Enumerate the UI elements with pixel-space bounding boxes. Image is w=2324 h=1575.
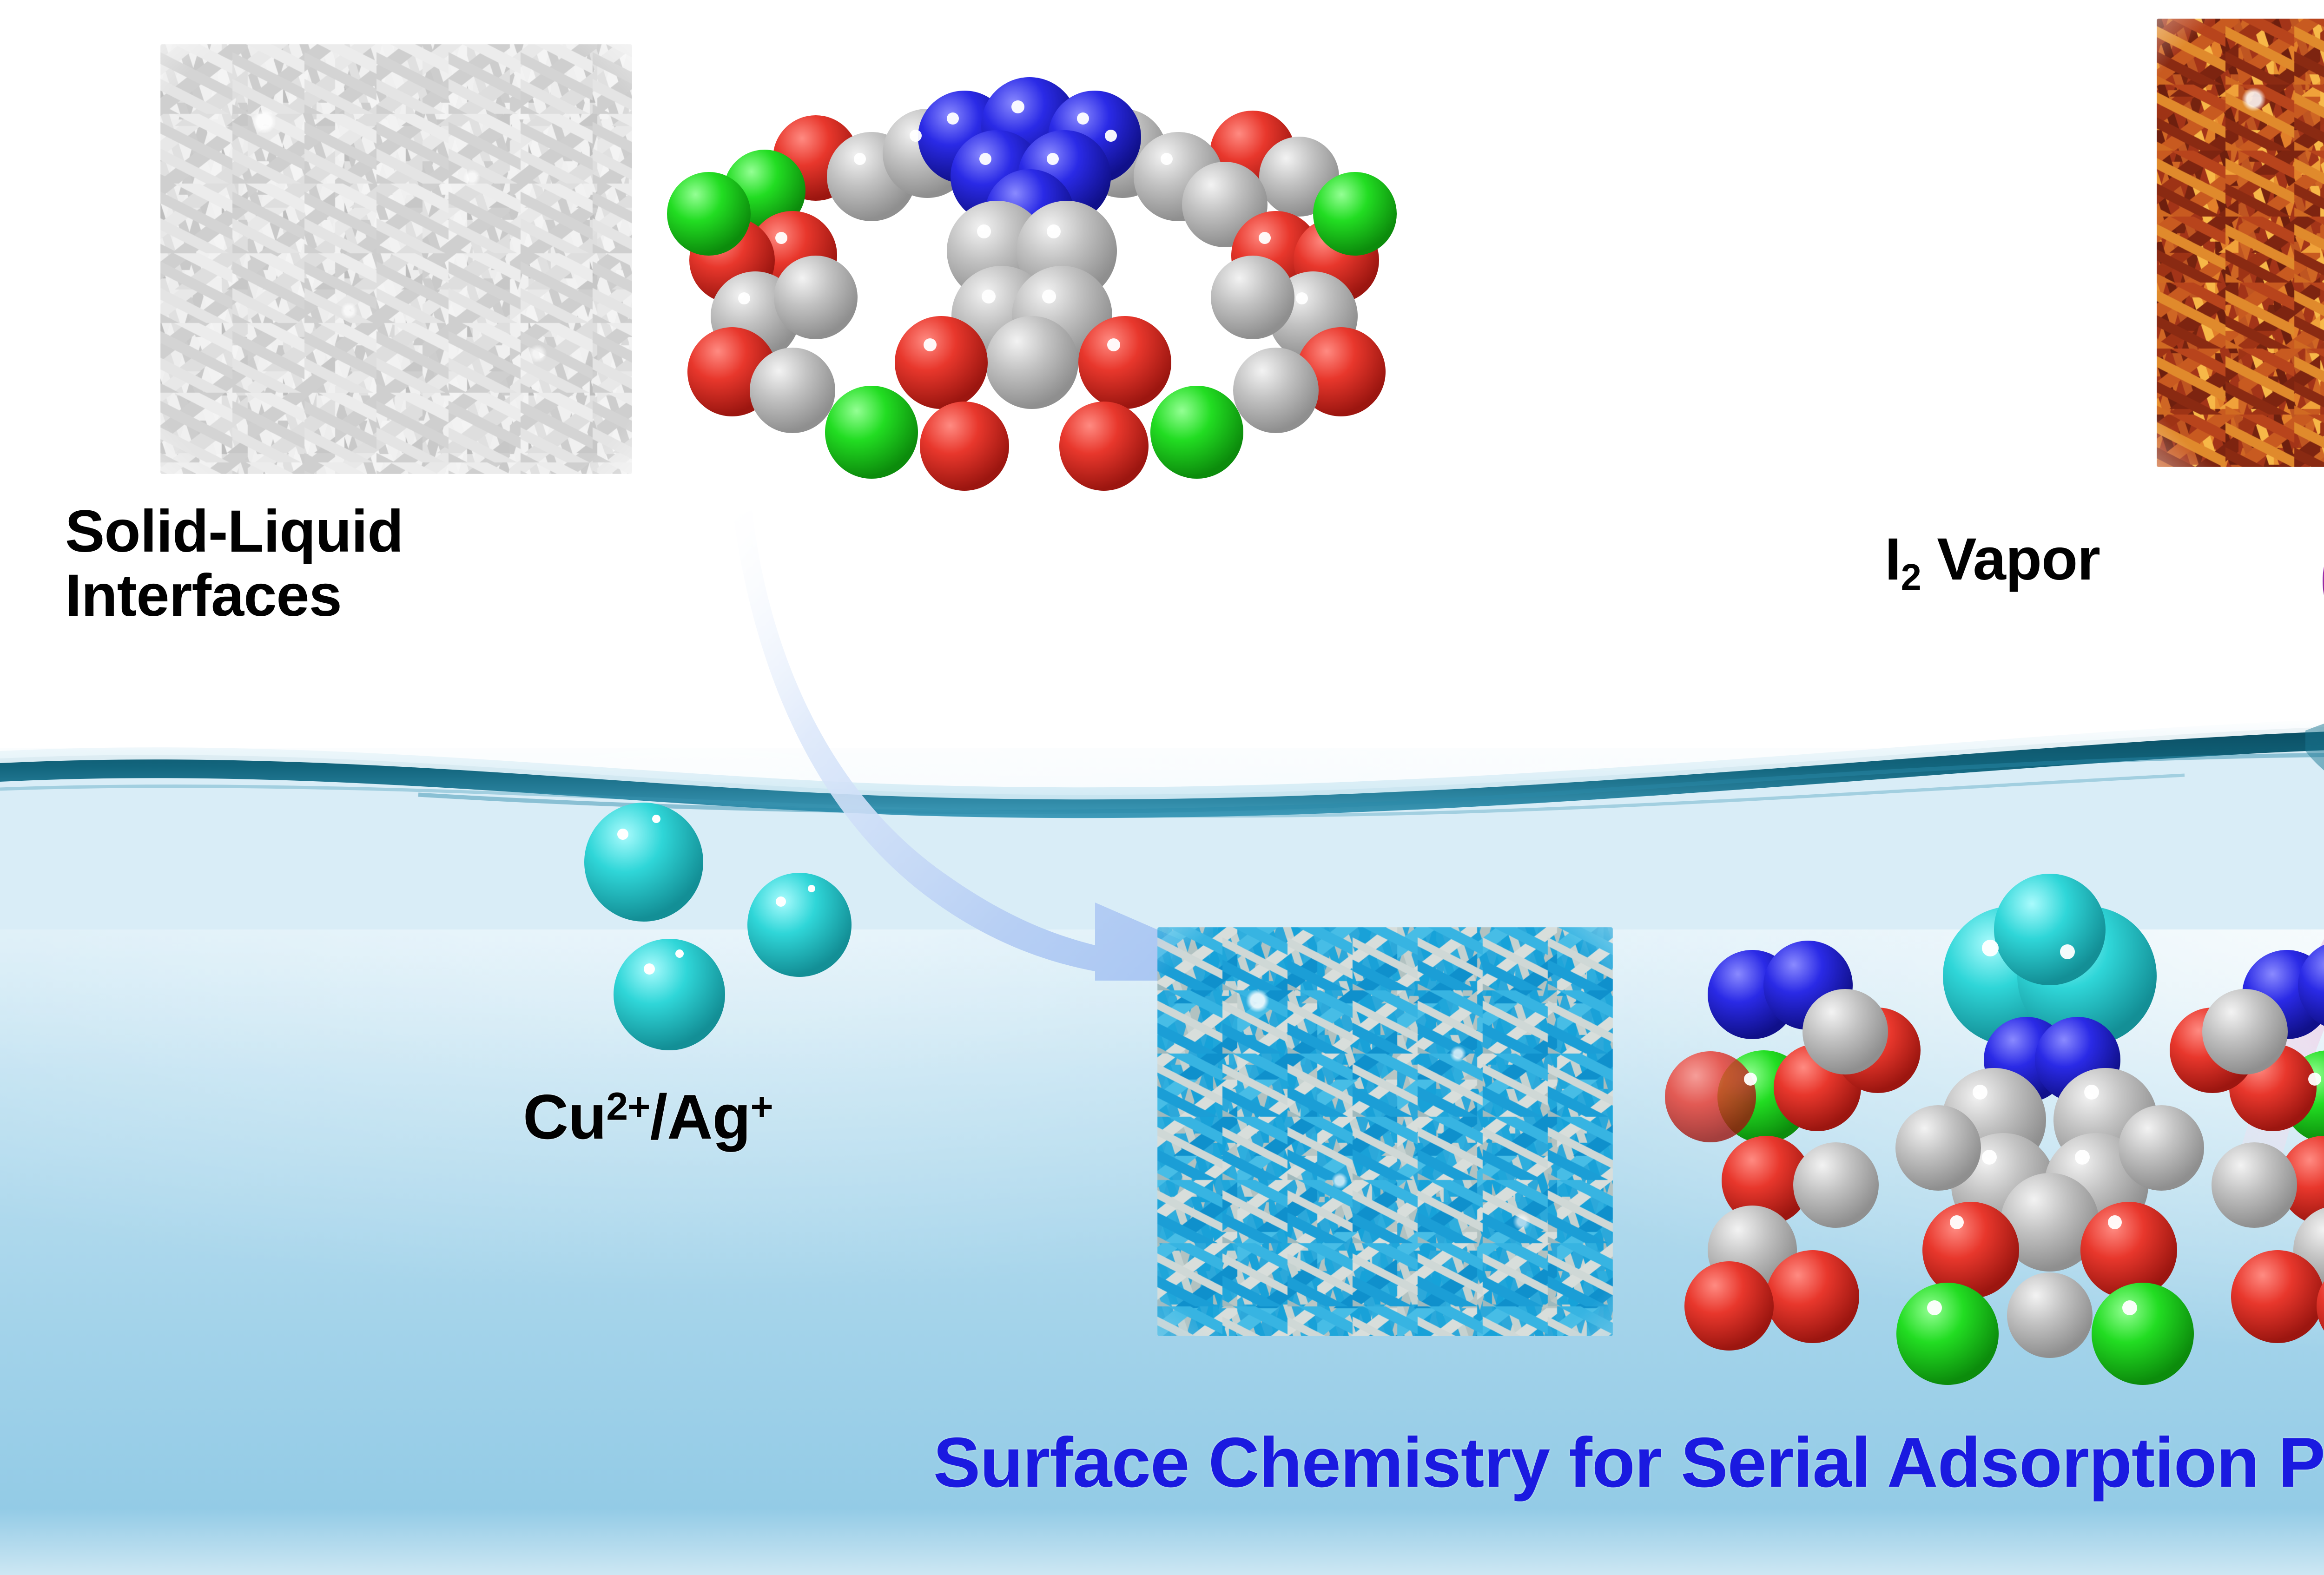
label-metal-ions: Cu2+/Ag+ — [523, 1083, 773, 1151]
silver-charge: + — [751, 1085, 773, 1128]
iodine-symbol: I — [1885, 526, 1901, 593]
copper-symbol: Cu — [523, 1081, 606, 1152]
blue-crystals-photo — [1157, 927, 1613, 1336]
copper-charge: 2+ — [606, 1085, 650, 1128]
page-title: Surface Chemistry for Serial Adsorption … — [0, 1422, 2324, 1503]
label-solid-liquid-interfaces: Solid-Liquid Interfaces — [65, 500, 403, 628]
orange-crystals-photo — [2157, 19, 2324, 467]
diatomic-iodine-molecule — [2305, 504, 2324, 658]
iodine-subscript: 2 — [1901, 556, 1921, 598]
vapor-word: Vapor — [1921, 526, 2100, 593]
silver-symbol: /Ag — [650, 1081, 750, 1152]
graphical-abstract: Solid-Liquid Interfaces Solid-Gas Interf… — [0, 0, 2324, 1575]
label-iodine-vapor: I2 Vapor — [1885, 527, 2100, 597]
metal-cation-spheres — [553, 785, 897, 1083]
white-crystals-photo — [160, 44, 632, 474]
molecular-model-metal-loaded — [1659, 897, 2324, 1390]
molecular-model-pristine — [676, 37, 1383, 479]
